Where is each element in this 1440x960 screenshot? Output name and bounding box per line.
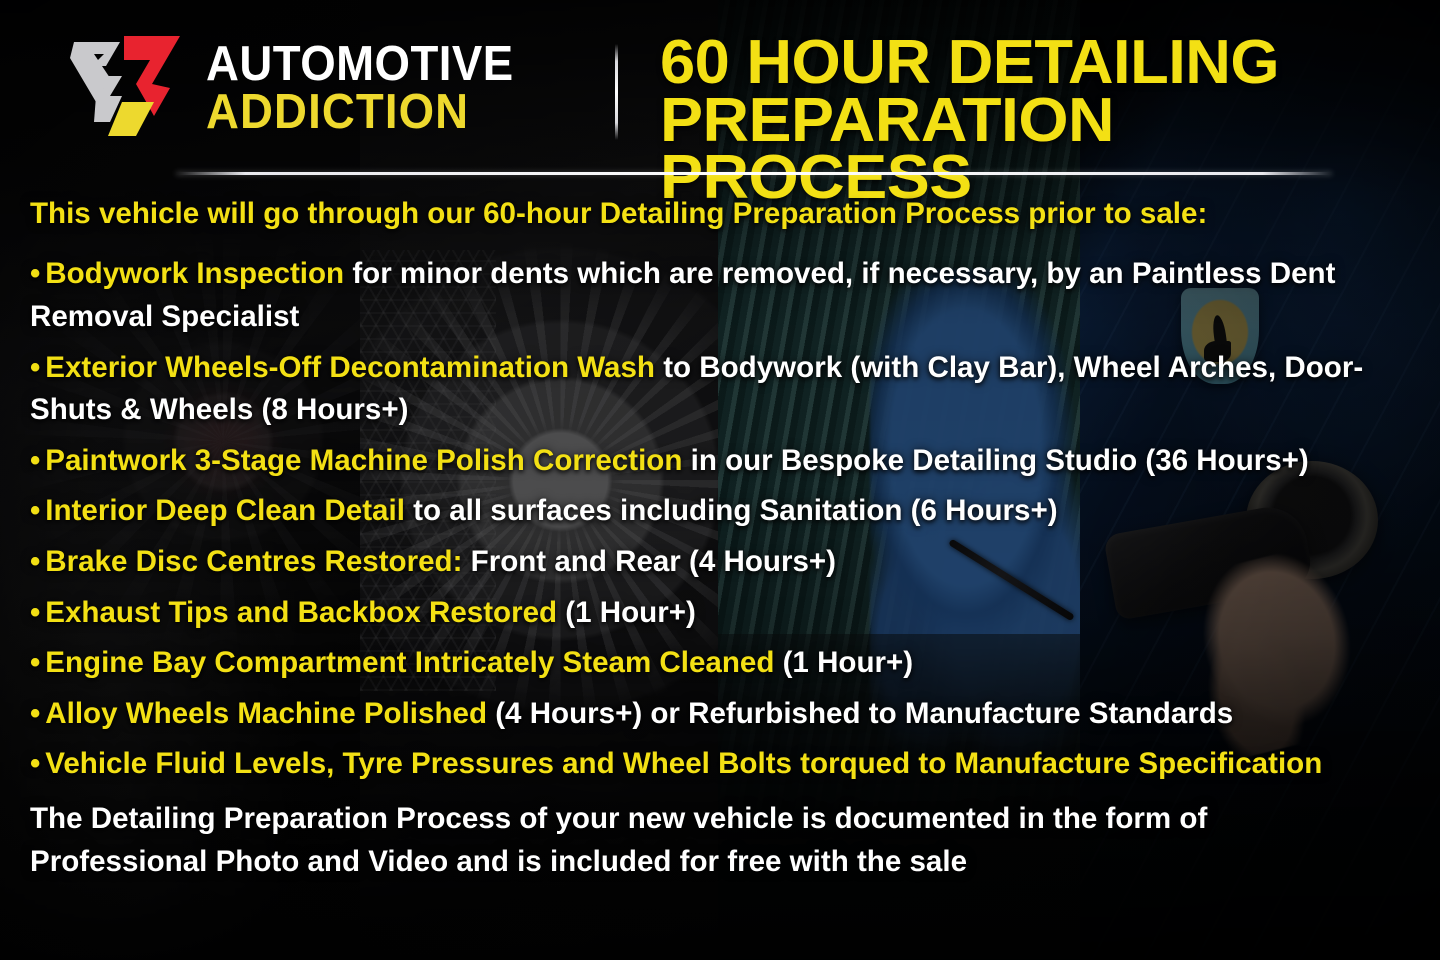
bullet-dot-icon: • <box>30 545 40 578</box>
list-item-highlight: Bodywork Inspection <box>45 257 344 290</box>
intro-text: This vehicle will go through our 60-hour… <box>30 196 1391 231</box>
poster-header: AUTOMOTIVE ADDICTION 60 HOUR DETAILING P… <box>0 0 1440 176</box>
list-item: •Interior Deep Clean Detail to all surfa… <box>30 490 1391 533</box>
headline-line-2: PREPARATION PROCESS <box>660 92 1430 207</box>
header-horizontal-divider <box>176 172 1332 175</box>
poster-body: This vehicle will go through our 60-hour… <box>30 196 1412 883</box>
list-item-text: (1 Hour+) <box>557 596 696 629</box>
list-item: •Vehicle Fluid Levels, Tyre Pressures an… <box>30 743 1391 786</box>
list-item-highlight: Interior Deep Clean Detail <box>45 494 405 527</box>
list-item-highlight: Engine Bay Compartment Intricately Steam… <box>45 646 774 679</box>
header-vertical-divider <box>615 44 618 140</box>
bullet-dot-icon: • <box>30 257 40 290</box>
bullet-dot-icon: • <box>30 646 40 679</box>
bullet-dot-icon: • <box>30 697 40 730</box>
list-item-text: to all surfaces including Sanitation (6 … <box>405 494 1058 527</box>
page-title: 60 HOUR DETAILING PREPARATION PROCESS <box>660 34 1400 207</box>
list-item-text: (4 Hours+) or Refurbished to Manufacture… <box>487 697 1233 730</box>
list-item-highlight: Exhaust Tips and Backbox Restored <box>45 596 557 629</box>
brand-name-line-2: ADDICTION <box>206 90 514 134</box>
list-item-text: Front and Rear (4 Hours+) <box>462 545 836 578</box>
bullet-dot-icon: • <box>30 747 40 780</box>
list-item: •Alloy Wheels Machine Polished (4 Hours+… <box>30 693 1391 736</box>
bullet-dot-icon: • <box>30 444 40 477</box>
automotive-addiction-logo-icon <box>66 32 184 144</box>
headline-line-1: 60 HOUR DETAILING <box>660 34 1415 92</box>
list-item: •Paintwork 3-Stage Machine Polish Correc… <box>30 440 1391 483</box>
process-list: •Bodywork Inspection for minor dents whi… <box>30 253 1412 786</box>
outro-text: The Detailing Preparation Process of you… <box>30 798 1391 883</box>
list-item-highlight: Vehicle Fluid Levels, Tyre Pressures and… <box>45 747 1322 780</box>
list-item-highlight: Paintwork 3-Stage Machine Polish Correct… <box>45 444 682 477</box>
list-item: •Engine Bay Compartment Intricately Stea… <box>30 642 1391 685</box>
list-item-highlight: Exterior Wheels-Off Decontamination Wash <box>45 351 655 384</box>
list-item: •Brake Disc Centres Restored: Front and … <box>30 541 1391 584</box>
list-item: •Bodywork Inspection for minor dents whi… <box>30 253 1391 338</box>
brand-lockup: AUTOMOTIVE ADDICTION <box>66 32 566 144</box>
list-item-highlight: Brake Disc Centres Restored: <box>45 545 462 578</box>
bullet-dot-icon: • <box>30 596 40 629</box>
detailing-process-poster: AUTOMOTIVE ADDICTION 60 HOUR DETAILING P… <box>0 0 1440 960</box>
list-item-highlight: Alloy Wheels Machine Polished <box>45 697 487 730</box>
list-item-text: (1 Hour+) <box>774 646 913 679</box>
bullet-dot-icon: • <box>30 494 40 527</box>
list-item: •Exhaust Tips and Backbox Restored (1 Ho… <box>30 592 1391 635</box>
list-item: •Exterior Wheels-Off Decontamination Was… <box>30 347 1391 432</box>
bullet-dot-icon: • <box>30 351 40 384</box>
brand-wordmark: AUTOMOTIVE ADDICTION <box>206 42 537 134</box>
list-item-text: in our Bespoke Detailing Studio (36 Hour… <box>682 444 1308 477</box>
brand-name-line-1: AUTOMOTIVE <box>206 42 514 86</box>
